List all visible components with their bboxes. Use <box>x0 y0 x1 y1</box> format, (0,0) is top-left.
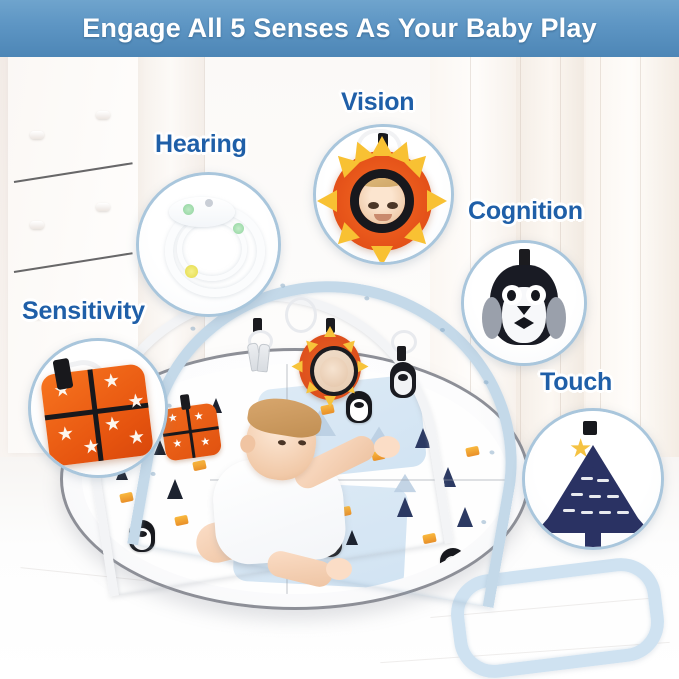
key-icon <box>257 344 271 373</box>
baby-reflection-large <box>359 178 405 224</box>
baby-hand <box>374 436 400 458</box>
plush-beak <box>517 306 531 315</box>
plush-pupil <box>507 290 516 301</box>
rattle-cap <box>205 199 213 207</box>
keys-rattle <box>245 332 275 374</box>
callout-bubble-cognition[interactable] <box>461 240 587 366</box>
product-marketing-image: Engage All 5 Senses As Your Baby Play <box>0 0 679 679</box>
callout-bubble-vision[interactable] <box>313 124 454 265</box>
callout-label-touch: Touch <box>540 368 612 397</box>
baby-eye <box>278 440 287 446</box>
hearing-toy-image <box>139 175 278 314</box>
plush-pupil <box>531 290 540 301</box>
sun-mirror-toy-large <box>332 151 432 251</box>
callout-bubble-sensitivity[interactable]: ★ ★ ★ ★ ★ ★ ★ <box>28 338 168 478</box>
reflection-eye <box>368 202 379 209</box>
callout-bubble-hearing[interactable] <box>136 172 281 317</box>
toy-clip <box>397 346 406 361</box>
drawer-knob <box>30 131 44 139</box>
baby-eye <box>298 440 307 446</box>
callout-label-sensitivity: Sensitivity <box>22 297 145 326</box>
penguin-plush-large <box>490 265 558 345</box>
drawer-line <box>14 252 133 273</box>
sensitivity-toy-image: ★ ★ ★ ★ ★ ★ ★ <box>31 341 165 475</box>
touch-toy-image: ★ <box>525 411 661 547</box>
rattle-handle <box>169 197 235 227</box>
mirror-glass-large <box>350 169 414 233</box>
plush-wing <box>482 297 502 339</box>
callout-label-vision: Vision <box>341 88 414 117</box>
bead-green <box>183 204 194 215</box>
plush-bowtie <box>524 317 534 329</box>
penguin-hanging-toy <box>390 362 416 398</box>
reflection-eye <box>387 202 398 209</box>
baby-hand <box>326 558 352 580</box>
reflection-mouth <box>374 214 392 221</box>
header-banner: Engage All 5 Senses As Your Baby Play <box>0 0 679 57</box>
tree-plush-bottom <box>535 467 651 533</box>
drawer-line <box>14 162 133 183</box>
drawer-knob <box>96 203 110 211</box>
bead-green <box>233 223 244 234</box>
bead-yellow <box>185 265 198 278</box>
vision-toy-image <box>316 127 451 262</box>
callout-bubble-touch[interactable]: ★ <box>522 408 664 550</box>
cognition-toy-image <box>464 243 584 363</box>
drawer-knob <box>96 111 110 119</box>
reflection-hair <box>355 169 406 187</box>
callout-label-cognition: Cognition <box>468 197 583 226</box>
callout-label-hearing: Hearing <box>155 130 247 159</box>
o-ring-icon <box>285 297 317 333</box>
drawer-knob <box>30 221 44 229</box>
sun-mirror-toy <box>299 334 361 400</box>
plush-bowtie <box>514 317 524 329</box>
star-cushion-toy: ★ ★ ★ ★ <box>160 402 223 461</box>
tree-plush-trunk <box>585 527 601 547</box>
baby-reflection <box>320 357 348 387</box>
plush-wing <box>546 297 566 339</box>
toy-clip <box>180 394 191 410</box>
mirror-glass <box>310 346 358 396</box>
banner-title: Engage All 5 Senses As Your Baby Play <box>82 13 597 44</box>
